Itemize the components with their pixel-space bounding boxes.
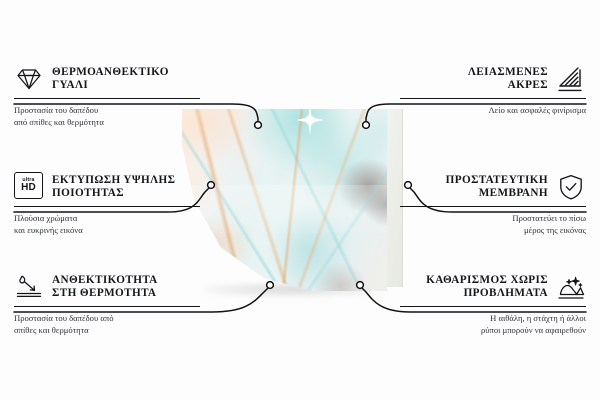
feature-title: ΠΡΟΣΤΑΤΕΥΤΙΚΗ ΜΕΜΒΡΑΝΗ xyxy=(446,174,548,200)
feature-easy-cleaning: ΚΑΘΑΡΙΣΜΟΣ ΧΩΡΙΣ ΠΡΟΒΛΗΜΑΤΑ Η αιθάλη, η … xyxy=(400,272,586,336)
feature-subtitle: Λείο και ασφαλές φινίρισμα xyxy=(400,104,586,116)
feature-subtitle: Προστασία του δαπέδου από σπίθες και θερ… xyxy=(14,104,200,128)
connector-dot-2 xyxy=(208,182,215,189)
feature-smoothed-edges: ΛΕΙΑΣΜΕΝΕΣ ΑΚΡΕΣ Λείο και ασφαλές φινίρι… xyxy=(400,64,586,116)
smoothed-edges-icon xyxy=(556,64,586,94)
infographic-canvas: ΘΕΡΜΟΑΝΘΕΚΤΙΚΟ ΓΥΑΛΙ Προστασία του δαπέδ… xyxy=(0,0,600,400)
feature-heat-durability: ΑΝΘΕΚΤΙΚΟΤΗΤΑ ΣΤΗ ΘΕΡΜΟΤΗΤΑ Προστασία το… xyxy=(14,272,200,336)
divider xyxy=(14,206,200,207)
connector-dot-1 xyxy=(255,122,262,129)
flame-heat-resistance-icon xyxy=(14,272,44,302)
feature-subtitle: Η αιθάλη, η στάχτη ή άλλοι ρύποι μπορούν… xyxy=(400,312,586,336)
feature-title: ΛΕΙΑΣΜΕΝΕΣ ΑΚΡΕΣ xyxy=(468,66,548,92)
divider xyxy=(400,306,586,307)
feature-protective-membrane: ΠΡΟΣΤΑΤΕΥΤΙΚΗ ΜΕΜΒΡΑΝΗ Προστατεύει το πί… xyxy=(400,172,586,236)
divider xyxy=(400,98,586,99)
ultra-hd-icon: ultra HD xyxy=(14,172,44,202)
feature-subtitle: Πλούσια χρώματα και ευκρινής εικόνα xyxy=(14,212,200,236)
connector-dot-6 xyxy=(357,282,364,289)
feature-high-quality-print: ultra HD ΕΚΤΥΠΩΣΗ ΥΨΗΛΗΣ ΠΟΙΟΤΗΤΑΣ Πλούσ… xyxy=(14,172,200,236)
feature-subtitle: Προστατεύει το πίσω μέρος της εικόνας xyxy=(400,212,586,236)
divider xyxy=(400,206,586,207)
ultra-hd-badge-bottom: HD xyxy=(21,183,36,193)
connector-dot-4 xyxy=(363,122,370,129)
divider xyxy=(14,306,200,307)
feature-title: ΚΑΘΑΡΙΣΜΟΣ ΧΩΡΙΣ ΠΡΟΒΛΗΜΑΤΑ xyxy=(426,274,548,300)
connector-dot-3 xyxy=(267,282,274,289)
divider xyxy=(14,98,200,99)
feature-title: ΕΚΤΥΠΩΣΗ ΥΨΗΛΗΣ ΠΟΙΟΤΗΤΑΣ xyxy=(52,174,175,200)
feature-title: ΑΝΘΕΚΤΙΚΟΤΗΤΑ ΣΤΗ ΘΕΡΜΟΤΗΤΑ xyxy=(52,274,158,300)
shield-check-icon xyxy=(556,172,586,202)
feature-subtitle: Προστασία του δαπέδου από σπίθες και θερ… xyxy=(14,312,200,336)
feature-heat-resistant-glass: ΘΕΡΜΟΑΝΘΕΚΤΙΚΟ ΓΥΑΛΙ Προστασία του δαπέδ… xyxy=(14,64,200,128)
diamond-icon xyxy=(14,64,44,94)
easy-cleaning-icon xyxy=(556,272,586,302)
feature-title: ΘΕΡΜΟΑΝΘΕΚΤΙΚΟ ΓΥΑΛΙ xyxy=(52,66,169,92)
